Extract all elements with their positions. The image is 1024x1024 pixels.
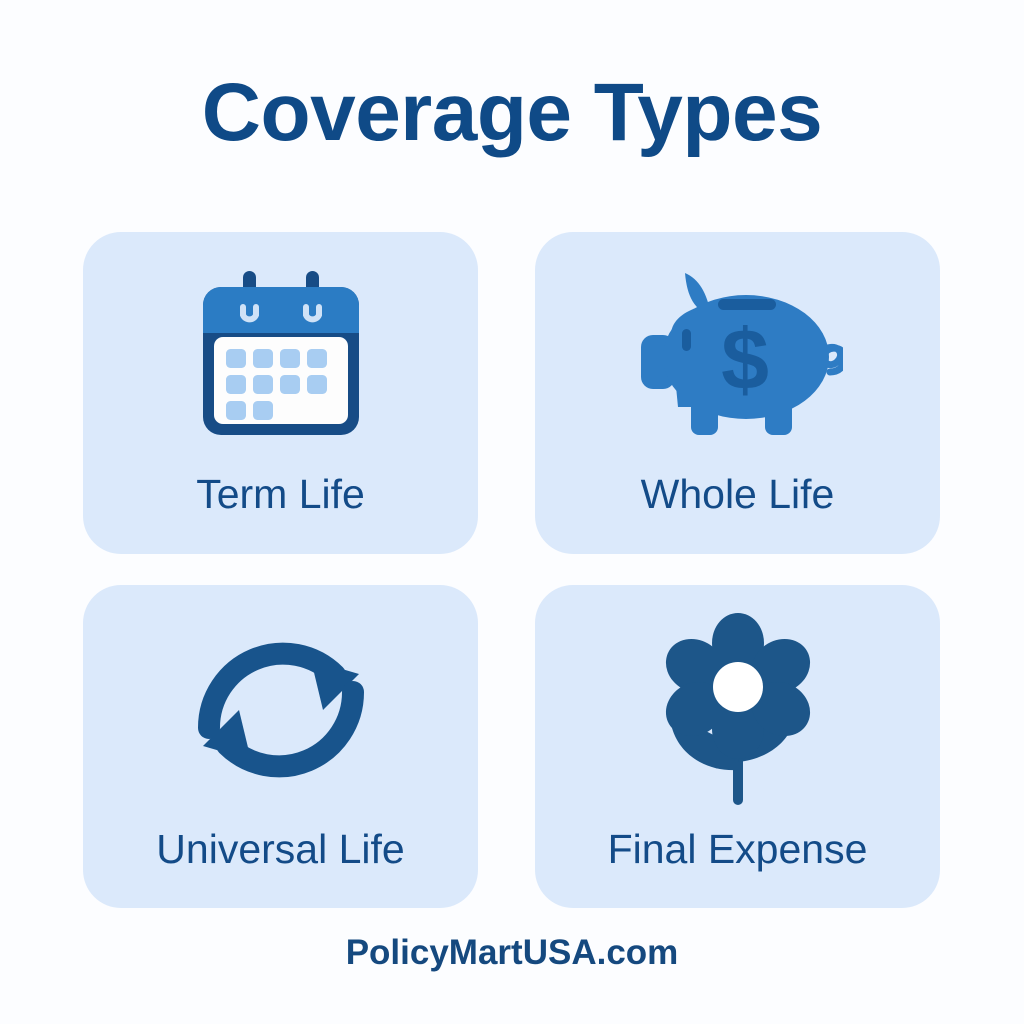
card-universal-life[interactable]: Universal Life [83, 585, 478, 908]
svg-text:$: $ [721, 312, 769, 408]
page-title: Coverage Types [0, 72, 1024, 154]
refresh-cycle-icon [83, 607, 478, 812]
card-label-term-life: Term Life [83, 472, 478, 517]
calendar-icon [83, 254, 478, 459]
card-whole-life[interactable]: $ Whole Life [535, 232, 940, 554]
card-term-life[interactable]: Term Life [83, 232, 478, 554]
infographic-canvas: Coverage Types [0, 0, 1024, 1024]
card-label-universal-life: Universal Life [83, 827, 478, 872]
card-final-expense[interactable]: Final Expense [535, 585, 940, 908]
piggy-bank-icon: $ [535, 254, 940, 459]
coverage-type-grid: Term Life [83, 232, 940, 908]
card-label-whole-life: Whole Life [535, 472, 940, 517]
card-label-final-expense: Final Expense [535, 827, 940, 872]
flower-icon [535, 607, 940, 812]
footer-brand: PolicyMartUSA.com [0, 933, 1024, 973]
